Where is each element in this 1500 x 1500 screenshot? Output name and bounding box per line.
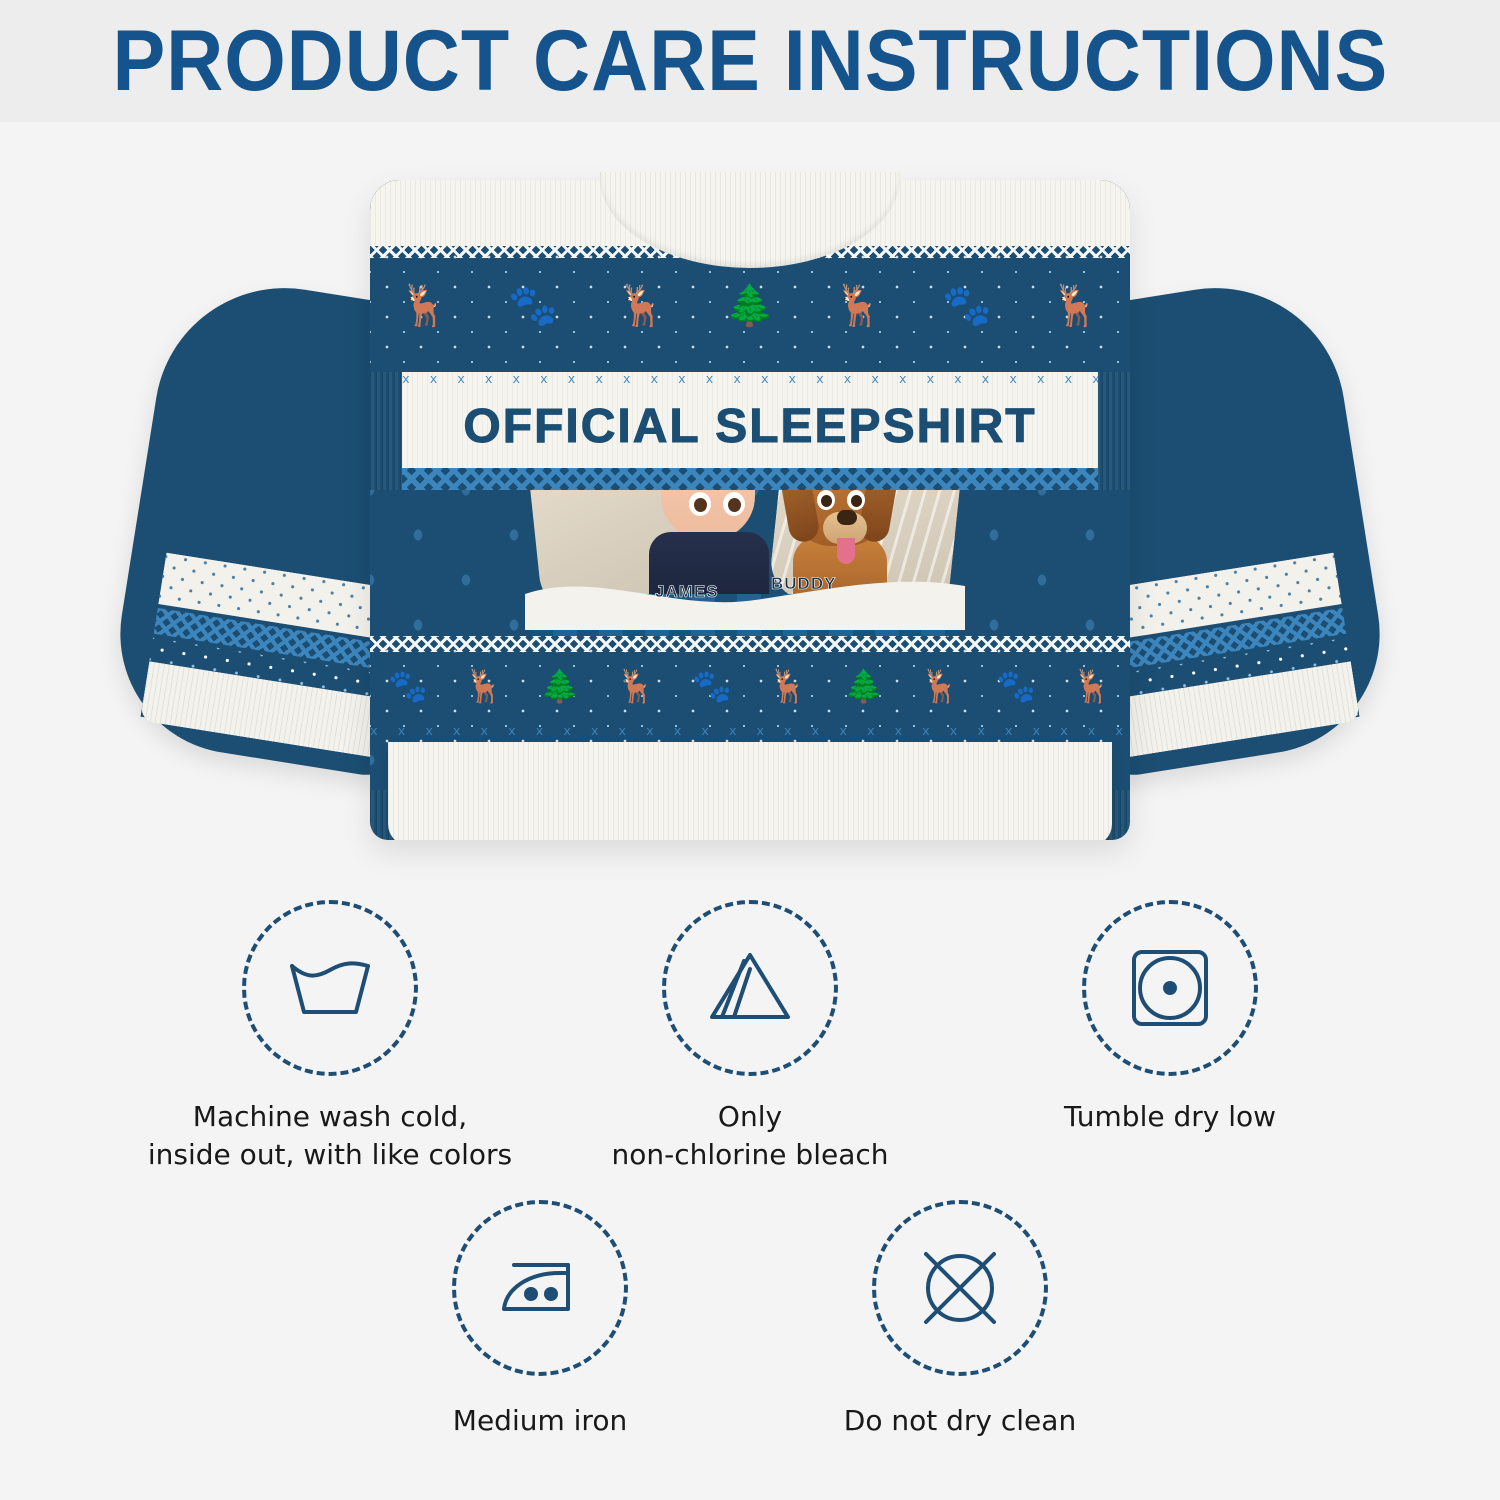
care-circle-bleach xyxy=(662,900,838,1076)
dog-pupil-left xyxy=(821,495,832,507)
reindeer-icon: 🦌 xyxy=(1051,286,1101,326)
bleach-triangle-icon xyxy=(704,947,796,1029)
paw-print-icon: 🐾 xyxy=(692,670,732,702)
motif-row-bottom: 🐾 🦌 🌲 🦌 🐾 🦌 🌲 🦌 🐾 🦌 xyxy=(370,654,1130,718)
pet-name-tag: BUDDY xyxy=(771,574,836,594)
zigzag-band-under-title xyxy=(402,468,1098,490)
care-label-machine-wash: Machine wash cold, inside out, with like… xyxy=(148,1098,512,1174)
reindeer-icon: 🦌 xyxy=(834,286,884,326)
cross-stitch-row-bottom: x x x x x x x x x x x x x x x x x x x x … xyxy=(370,724,1130,740)
reindeer-icon: 🦌 xyxy=(399,286,449,326)
reindeer-icon: 🦌 xyxy=(464,670,504,702)
care-symbols-section: Machine wash cold, inside out, with like… xyxy=(0,900,1500,1500)
boy-eye-right xyxy=(723,492,745,516)
fairisle-band-bottom: 🐾 🦌 🌲 🦌 🐾 🦌 🌲 🦌 🐾 🦌 x x x x x x x x x x … xyxy=(370,636,1130,744)
reindeer-icon: 🦌 xyxy=(616,670,656,702)
page-header: PRODUCT CARE INSTRUCTIONS xyxy=(0,0,1500,122)
care-item-iron: Medium iron xyxy=(330,1200,750,1500)
dog-eye-left xyxy=(817,490,835,510)
dog-eye-right xyxy=(847,490,865,510)
tumble-dry-icon xyxy=(1128,946,1212,1030)
reindeer-icon: 🦌 xyxy=(617,286,667,326)
care-circle-dry-clean xyxy=(872,1200,1048,1376)
sweater-title-panel: x x x x x x x x x x x x x x x x x x x x … xyxy=(402,372,1098,468)
care-circle-machine-wash xyxy=(242,900,418,1076)
product-image-area: 🦌 🐾 🦌 🌲 🦌 🐾 🦌 x x x x x x x x x x x x x … xyxy=(0,122,1500,900)
dog-pupil-right xyxy=(851,495,862,507)
paw-print-icon: 🐾 xyxy=(942,286,992,326)
sweater-knit-title: OFFICIAL SLEEPSHIRT xyxy=(463,399,1036,454)
care-circle-tumble-dry xyxy=(1082,900,1258,1076)
care-instructions-page: PRODUCT CARE INSTRUCTIONS xyxy=(0,0,1500,1500)
care-item-bleach: Only non-chlorine bleach xyxy=(540,900,960,1200)
paw-print-icon: 🐾 xyxy=(996,670,1036,702)
care-label-iron: Medium iron xyxy=(453,1402,627,1440)
tree-icon: 🌲 xyxy=(844,670,884,702)
care-item-dry-clean: Do not dry clean xyxy=(750,1200,1170,1500)
tree-icon: 🌲 xyxy=(540,670,580,702)
care-item-tumble-dry: Tumble dry low xyxy=(960,900,1380,1200)
sweater-hem-trim xyxy=(388,742,1112,840)
boy-pupil-left xyxy=(694,498,707,512)
sweater-graphic: 🦌 🐾 🦌 🌲 🦌 🐾 🦌 x x x x x x x x x x x x x … xyxy=(370,180,1130,860)
boy-pupil-right xyxy=(728,498,741,512)
care-label-bleach: Only non-chlorine bleach xyxy=(611,1098,888,1174)
dog-nose xyxy=(837,510,857,525)
wash-tub-icon xyxy=(284,948,376,1028)
no-dry-clean-icon xyxy=(916,1244,1004,1332)
reindeer-icon: 🦌 xyxy=(920,670,960,702)
boy-eye-left xyxy=(689,492,711,516)
page-title: PRODUCT CARE INSTRUCTIONS xyxy=(112,18,1388,104)
care-circle-iron xyxy=(452,1200,628,1376)
cross-stitch-row-top: x x x x x x x x x x x x x x x x x x x x … xyxy=(402,372,1098,388)
care-label-dry-clean: Do not dry clean xyxy=(844,1402,1076,1440)
tree-icon: 🌲 xyxy=(725,286,775,326)
care-row-2: Medium iron Do not dry clean xyxy=(0,1200,1500,1500)
motif-row-top: 🦌 🐾 🦌 🌲 🦌 🐾 🦌 xyxy=(370,264,1130,348)
paw-print-icon: 🐾 xyxy=(508,286,558,326)
reindeer-icon: 🦌 xyxy=(1072,670,1112,702)
care-label-tumble-dry: Tumble dry low xyxy=(1064,1098,1276,1136)
person-name-tag: JAMES xyxy=(655,582,719,602)
paw-print-icon: 🐾 xyxy=(388,670,428,702)
iron-icon xyxy=(494,1251,586,1325)
care-item-machine-wash: Machine wash cold, inside out, with like… xyxy=(120,900,540,1200)
sweater-body: 🦌 🐾 🦌 🌲 🦌 🐾 🦌 x x x x x x x x x x x x x … xyxy=(370,180,1130,840)
bed-sheet xyxy=(525,560,965,630)
care-row-1: Machine wash cold, inside out, with like… xyxy=(0,900,1500,1200)
reindeer-icon: 🦌 xyxy=(768,670,808,702)
diamond-row-bottom xyxy=(370,636,1130,652)
